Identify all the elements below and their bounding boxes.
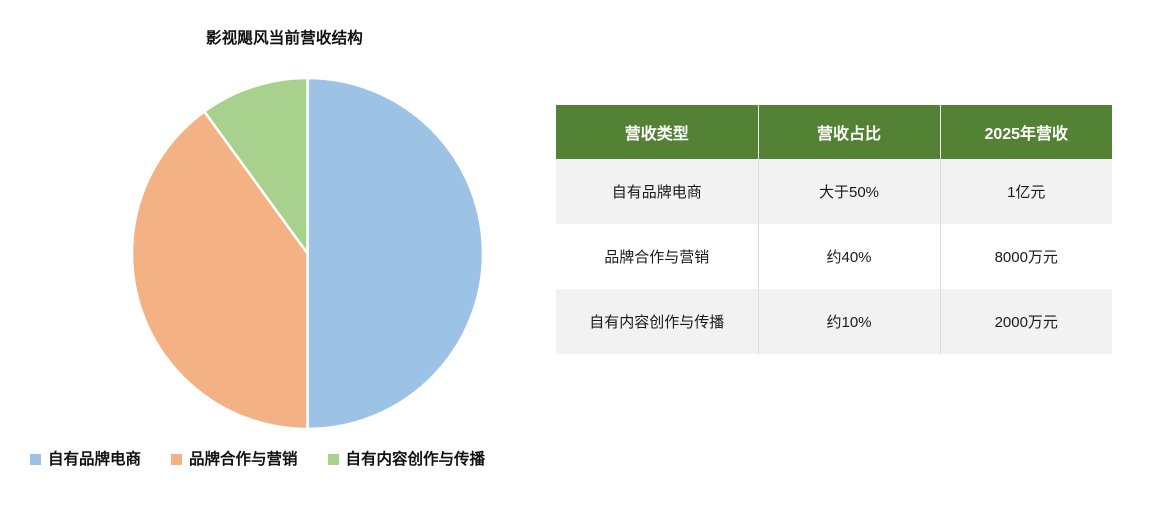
column-header-type: 营收类型: [556, 105, 758, 159]
cell-revenue-amount: 2000万元: [940, 289, 1112, 354]
legend-item[interactable]: 自有品牌电商: [30, 452, 141, 468]
pie-slice[interactable]: [308, 78, 484, 429]
table-row: 自有品牌电商大于50%1亿元: [556, 159, 1112, 224]
legend-swatch-icon: [30, 454, 41, 465]
page-title: 影视飓风当前营收结构: [206, 26, 363, 48]
table-row: 品牌合作与营销约40%8000万元: [556, 224, 1112, 289]
table-header-row: 营收类型 营收占比 2025年营收: [556, 105, 1112, 159]
cell-revenue-share: 约40%: [758, 224, 940, 289]
cell-revenue-amount: 1亿元: [940, 159, 1112, 224]
pie-chart-panel: 影视飓风当前营收结构 自有品牌电商品牌合作与营销自有内容创作与传播: [0, 0, 545, 510]
legend-item[interactable]: 自有内容创作与传播: [328, 452, 486, 468]
column-header-revenue: 2025年营收: [940, 105, 1112, 159]
cell-revenue-amount: 8000万元: [940, 224, 1112, 289]
legend-swatch-icon: [328, 454, 339, 465]
legend-swatch-icon: [171, 454, 182, 465]
cell-revenue-share: 大于50%: [758, 159, 940, 224]
cell-revenue-share: 约10%: [758, 289, 940, 354]
table-body: 自有品牌电商大于50%1亿元品牌合作与营销约40%8000万元自有内容创作与传播…: [556, 159, 1112, 354]
legend-item-label: 自有内容创作与传播: [346, 452, 486, 468]
cell-revenue-type: 自有内容创作与传播: [556, 289, 758, 354]
legend-item[interactable]: 品牌合作与营销: [171, 452, 298, 468]
revenue-structure-table: 营收类型 营收占比 2025年营收 自有品牌电商大于50%1亿元品牌合作与营销约…: [556, 105, 1112, 354]
pie-chart-svg: [132, 78, 483, 429]
pie-chart: [132, 78, 483, 429]
table-row: 自有内容创作与传播约10%2000万元: [556, 289, 1112, 354]
chart-legend: 自有品牌电商品牌合作与营销自有内容创作与传播: [30, 452, 515, 468]
legend-item-label: 品牌合作与营销: [189, 452, 298, 468]
cell-revenue-type: 自有品牌电商: [556, 159, 758, 224]
legend-item-label: 自有品牌电商: [48, 452, 141, 468]
cell-revenue-type: 品牌合作与营销: [556, 224, 758, 289]
column-header-share: 营收占比: [758, 105, 940, 159]
table-header: 营收类型 营收占比 2025年营收: [556, 105, 1112, 159]
